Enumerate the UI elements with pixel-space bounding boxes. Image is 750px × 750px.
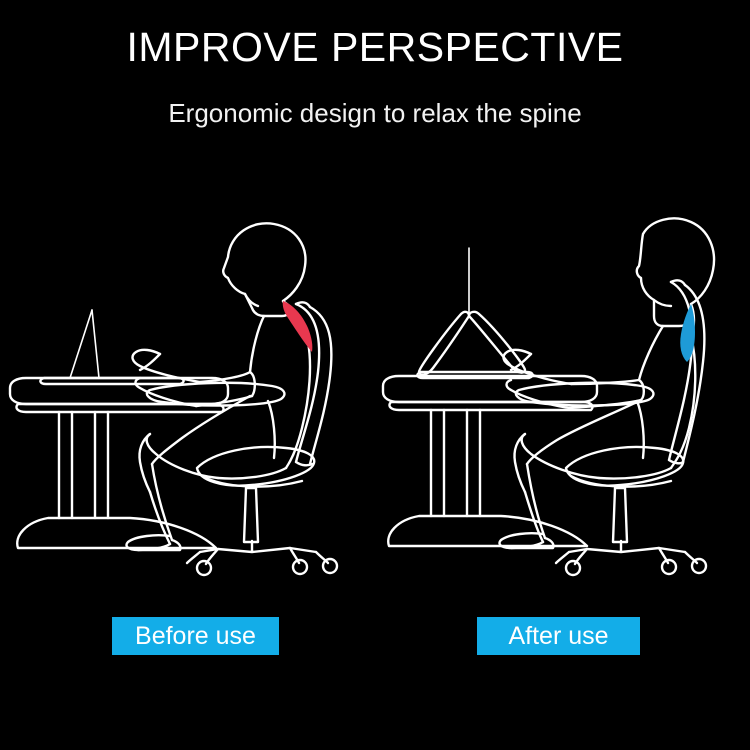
desk-after [383, 376, 597, 546]
person-after [499, 218, 714, 548]
page-subtitle: Ergonomic design to relax the spine [0, 97, 750, 129]
label-before-use-text: Before use [135, 622, 256, 650]
laptop-stand-after [417, 248, 532, 378]
chair-seat-after [566, 447, 683, 487]
label-after-use: After use [477, 617, 640, 655]
illustration-after-use [375, 200, 750, 600]
spine-relief-highlight [680, 304, 695, 362]
chair-seat-before [197, 447, 314, 487]
person-before [126, 223, 310, 550]
promo-image-root: IMPROVE PERSPECTIVE Ergonomic design to … [0, 0, 750, 750]
label-after-use-text: After use [508, 622, 608, 650]
chair-cylinder-before [244, 488, 258, 542]
spine-strain-highlight [283, 301, 313, 352]
chair-cylinder-after [613, 488, 627, 542]
chair-base-before [187, 541, 337, 575]
label-before-use: Before use [112, 617, 279, 655]
illustration-before-use [0, 200, 375, 600]
page-title: IMPROVE PERSPECTIVE [0, 24, 750, 70]
desk-before [10, 378, 228, 548]
